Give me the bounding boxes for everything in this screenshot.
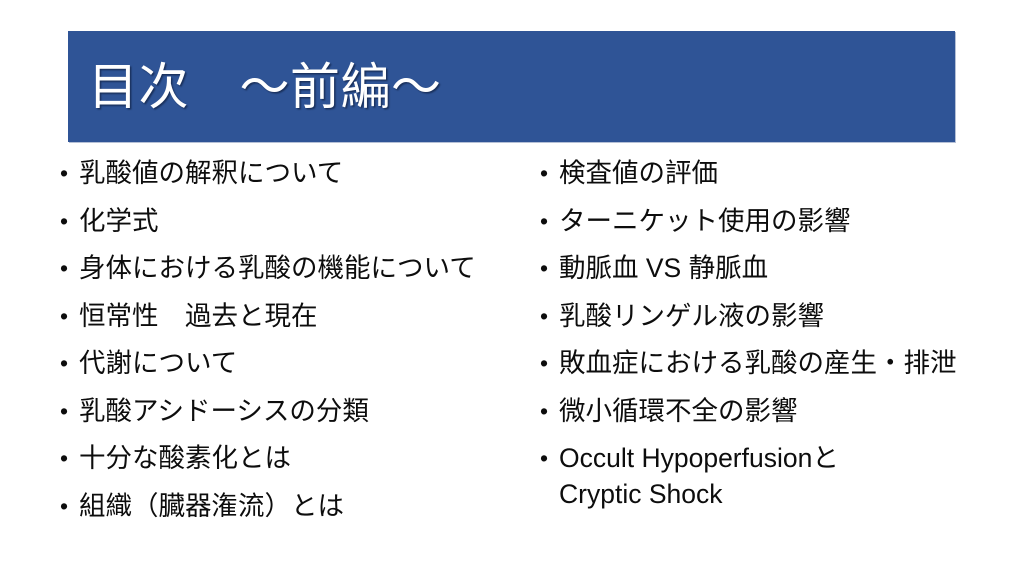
list-item: 化学式 (58, 203, 518, 239)
list-item: 動脈血 VS 静脈血 (538, 250, 1008, 286)
list-item: 検査値の評価 (538, 155, 1008, 191)
list-item: 恒常性 過去と現在 (58, 298, 518, 334)
list-item: Occult Hypoperfusionと Cryptic Shock (538, 440, 1008, 512)
bullet-column-right: 検査値の評価 ターニケット使用の影響 動脈血 VS 静脈血 乳酸リンゲル液の影響… (538, 155, 1008, 524)
list-item: 乳酸値の解釈について (58, 155, 518, 191)
title-banner: 目次 ～前編～ (68, 31, 955, 142)
page-title: 目次 ～前編～ (88, 60, 442, 114)
list-item: 乳酸リンゲル液の影響 (538, 298, 1008, 334)
list-item: 乳酸アシドーシスの分類 (58, 393, 518, 429)
list-item: 微小循環不全の影響 (538, 393, 1008, 429)
list-item: 組織（臓器潅流）とは (58, 488, 518, 524)
list-item: 敗血症における乳酸の産生・排泄 (538, 345, 1008, 381)
list-item: 十分な酸素化とは (58, 440, 518, 476)
slide-canvas: 目次 ～前編～ 乳酸値の解釈について 化学式 身体における乳酸の機能について 恒… (0, 0, 1024, 576)
content-columns: 乳酸値の解釈について 化学式 身体における乳酸の機能について 恒常性 過去と現在… (0, 155, 1024, 565)
list-item: 身体における乳酸の機能について (58, 250, 518, 286)
bullet-column-left: 乳酸値の解釈について 化学式 身体における乳酸の機能について 恒常性 過去と現在… (58, 155, 518, 535)
list-item: ターニケット使用の影響 (538, 203, 1008, 239)
bullet-list-left: 乳酸値の解釈について 化学式 身体における乳酸の機能について 恒常性 過去と現在… (58, 155, 518, 524)
bullet-list-right: 検査値の評価 ターニケット使用の影響 動脈血 VS 静脈血 乳酸リンゲル液の影響… (538, 155, 1008, 512)
list-item: 代謝について (58, 345, 518, 381)
